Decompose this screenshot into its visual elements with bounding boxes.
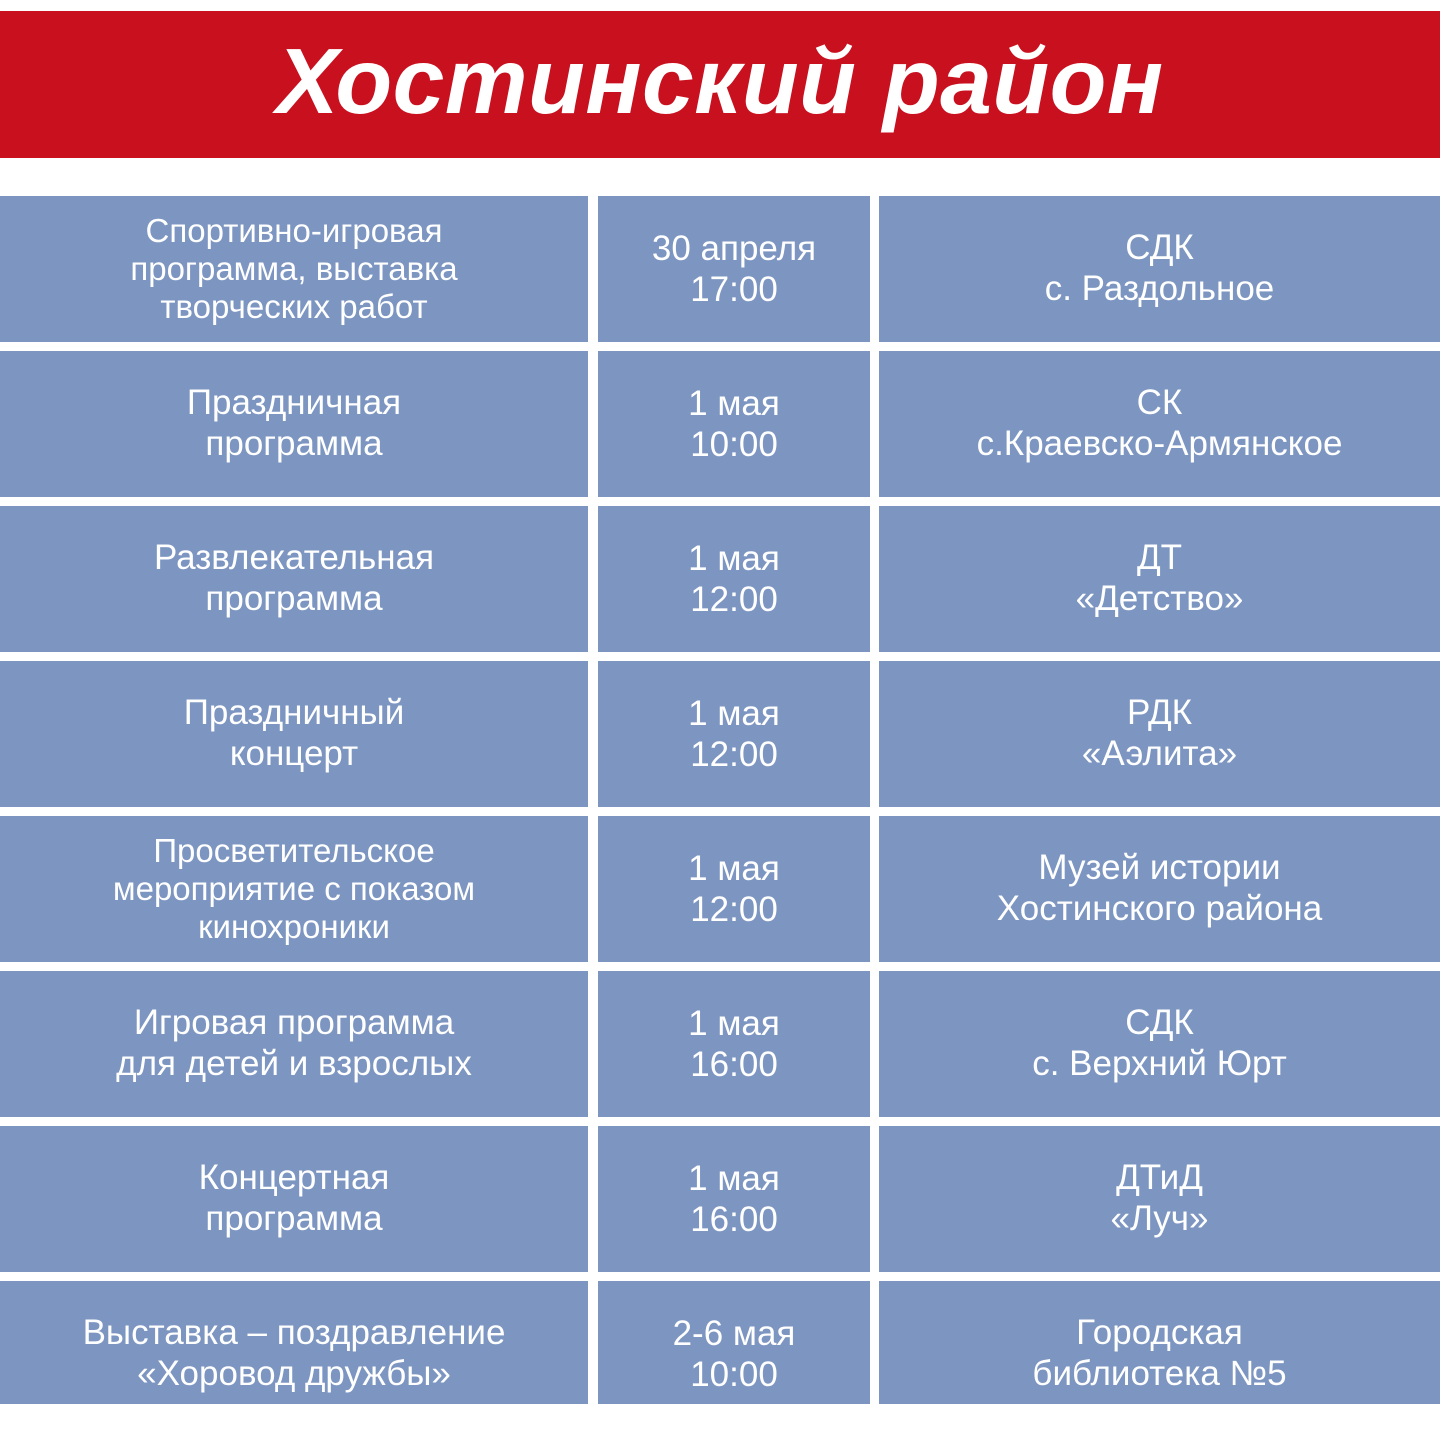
table-row: Концертная программа 1 мая 16:00 ДТиД «Л… <box>0 1126 1440 1272</box>
date-text: 1 мая 10:00 <box>606 383 862 466</box>
place-text: РДК «Аэлита» <box>895 693 1424 774</box>
date-cell: 30 апреля 17:00 <box>598 196 870 342</box>
column-gap <box>870 661 879 807</box>
place-text: СДК с. Раздольное <box>895 228 1424 309</box>
date-text: 1 мая 12:00 <box>606 693 862 776</box>
column-gap <box>588 196 598 342</box>
place-cell: СДК с. Верхний Юрт <box>879 971 1440 1117</box>
table-row: Развлекательная программа 1 мая 12:00 ДТ… <box>0 506 1440 652</box>
header-banner: Хостинский район <box>0 11 1440 158</box>
date-cell: 1 мая 16:00 <box>598 971 870 1117</box>
column-gap <box>870 196 879 342</box>
table-row: Просветительское мероприятие с показом к… <box>0 816 1440 962</box>
column-gap <box>588 661 598 807</box>
date-cell: 1 мая 16:00 <box>598 1126 870 1272</box>
poster-root: Хостинский район Спортивно-игровая прогр… <box>0 0 1440 1440</box>
place-text: Музей истории Хостинского района <box>895 848 1424 929</box>
event-text: Игровая программа для детей и взрослых <box>24 1003 564 1084</box>
date-text: 1 мая 12:00 <box>606 848 862 931</box>
event-cell: Праздничная программа <box>0 351 588 497</box>
event-cell: Спортивно-игровая программа, выставка тв… <box>0 196 588 342</box>
schedule-table: Спортивно-игровая программа, выставка тв… <box>0 196 1440 1427</box>
date-text: 1 мая 16:00 <box>606 1158 862 1241</box>
column-gap <box>870 1126 879 1272</box>
place-cell: СДК с. Раздольное <box>879 196 1440 342</box>
event-cell: Праздничный концерт <box>0 661 588 807</box>
event-text: Выставка – поздравление «Хоровод дружбы» <box>24 1313 564 1394</box>
column-gap <box>588 1126 598 1272</box>
event-text: Просветительское мероприятие с показом к… <box>24 832 564 947</box>
place-cell: СК с.Краевско-Армянское <box>879 351 1440 497</box>
column-gap <box>588 506 598 652</box>
place-text: СК с.Краевско-Армянское <box>895 383 1424 464</box>
event-cell: Развлекательная программа <box>0 506 588 652</box>
place-text: ДТ «Детство» <box>895 538 1424 619</box>
column-gap <box>870 351 879 497</box>
table-row: Игровая программа для детей и взрослых 1… <box>0 971 1440 1117</box>
date-text: 1 мая 12:00 <box>606 538 862 621</box>
table-row: Праздничная программа 1 мая 10:00 СК с.К… <box>0 351 1440 497</box>
event-text: Развлекательная программа <box>24 538 564 619</box>
place-cell: Музей истории Хостинского района <box>879 816 1440 962</box>
column-gap <box>588 351 598 497</box>
event-cell: Игровая программа для детей и взрослых <box>0 971 588 1117</box>
event-cell: Просветительское мероприятие с показом к… <box>0 816 588 962</box>
date-text: 1 мая 16:00 <box>606 1003 862 1086</box>
column-gap <box>870 971 879 1117</box>
place-cell: ДТ «Детство» <box>879 506 1440 652</box>
table-row: Спортивно-игровая программа, выставка тв… <box>0 196 1440 342</box>
place-text: ДТиД «Луч» <box>895 1158 1424 1239</box>
column-gap <box>870 816 879 962</box>
date-cell: 1 мая 10:00 <box>598 351 870 497</box>
event-text: Праздничная программа <box>24 383 564 464</box>
event-text: Праздничный концерт <box>24 693 564 774</box>
date-cell: 1 мая 12:00 <box>598 661 870 807</box>
event-text: Спортивно-игровая программа, выставка тв… <box>24 212 564 327</box>
date-text: 30 апреля 17:00 <box>606 228 862 311</box>
table-row: Праздничный концерт 1 мая 12:00 РДК «Аэл… <box>0 661 1440 807</box>
column-gap <box>870 506 879 652</box>
place-text: СДК с. Верхний Юрт <box>895 1003 1424 1084</box>
date-text: 2-6 мая 10:00 <box>606 1313 862 1396</box>
column-gap <box>588 816 598 962</box>
event-cell: Концертная программа <box>0 1126 588 1272</box>
date-cell: 1 мая 12:00 <box>598 506 870 652</box>
place-cell: ДТиД «Луч» <box>879 1126 1440 1272</box>
page-title: Хостинский район <box>276 35 1163 134</box>
event-text: Концертная программа <box>24 1158 564 1239</box>
place-cell: РДК «Аэлита» <box>879 661 1440 807</box>
bottom-margin <box>0 1404 1440 1440</box>
column-gap <box>588 971 598 1117</box>
place-text: Городская библиотека №5 <box>895 1313 1424 1394</box>
date-cell: 1 мая 12:00 <box>598 816 870 962</box>
